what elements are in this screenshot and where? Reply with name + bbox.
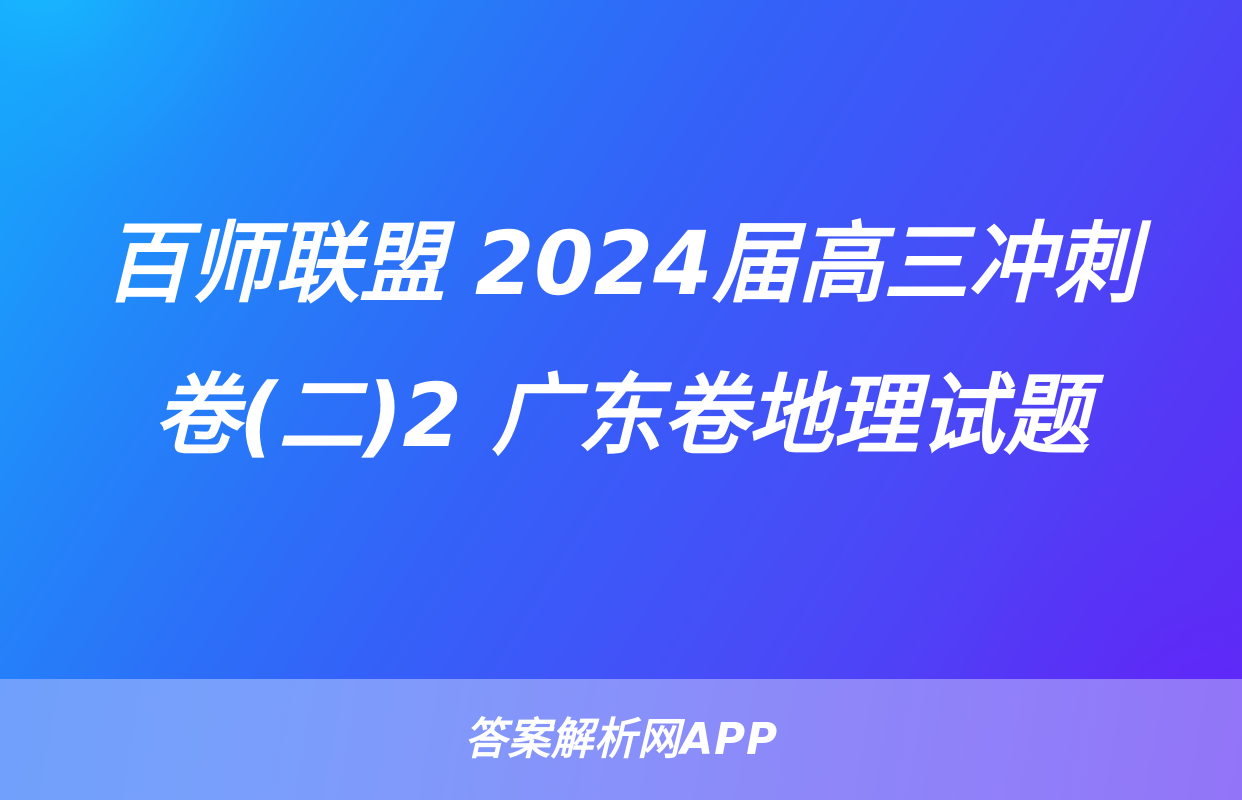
- poster-root: 百师联盟 2024届高三冲刺卷(二)2 广东卷地理试题 答案解析网APP: [0, 0, 1242, 800]
- hero-banner: 百师联盟 2024届高三冲刺卷(二)2 广东卷地理试题: [0, 0, 1242, 679]
- footer-brand-label: 答案解析网APP: [464, 718, 778, 762]
- footer-band: 答案解析网APP: [0, 679, 1242, 800]
- hero-content: 百师联盟 2024届高三冲刺卷(二)2 广东卷地理试题: [64, 188, 1179, 492]
- page-title: 百师联盟 2024届高三冲刺卷(二)2 广东卷地理试题: [80, 188, 1162, 492]
